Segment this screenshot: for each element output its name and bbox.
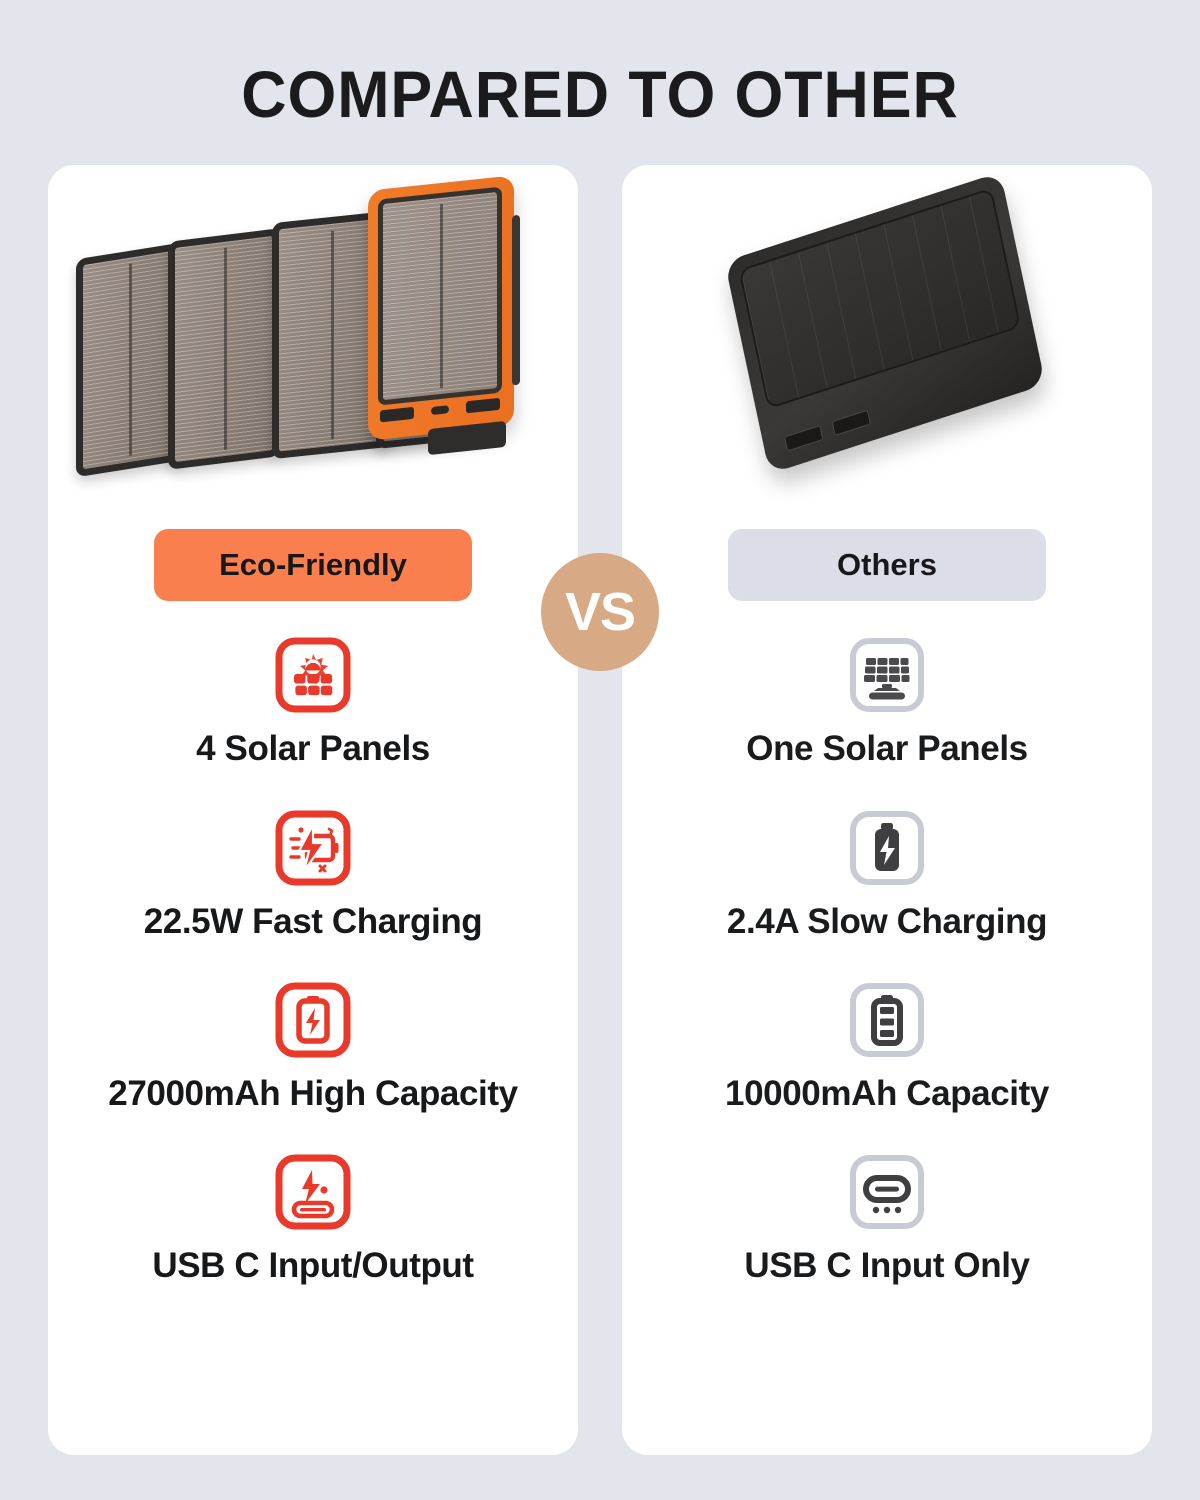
power-bank-side-trim	[512, 215, 520, 386]
battery-bolt-filled-icon	[847, 808, 927, 888]
usb-port-1	[784, 425, 823, 451]
vs-badge: VS	[541, 553, 659, 671]
single-panel-power-bank-illustration	[725, 172, 1046, 474]
power-bank-solar-face	[378, 187, 502, 406]
fast-charging-bolt-battery-icon	[273, 808, 353, 888]
comparison-infographic: COMPARED TO OTHER	[0, 0, 1200, 1500]
battery-segments-icon	[847, 980, 927, 1060]
feature-label: One Solar Panels	[746, 729, 1028, 769]
single-bank-ports	[784, 410, 871, 452]
feature-capacity: 27000mAh High Capacity	[48, 980, 578, 1114]
feature-label: 4 Solar Panels	[196, 729, 430, 769]
feature-label: 27000mAh High Capacity	[108, 1074, 517, 1114]
feature-usb-c: USB C Input/Output	[48, 1152, 578, 1286]
feature-list-others: One Solar Panels 2.4A Slow Charging	[622, 635, 1152, 1286]
usb-c-port-icon	[847, 1152, 927, 1232]
feature-capacity: 10000mAh Capacity	[622, 980, 1152, 1114]
feature-label: USB C Input Only	[744, 1246, 1029, 1286]
usb-port-2	[832, 410, 871, 436]
feature-usb-c: USB C Input Only	[622, 1152, 1152, 1286]
solar-panel-1	[76, 243, 181, 478]
product-image-eco	[48, 165, 578, 525]
foldable-solar-panels-illustration	[76, 175, 556, 515]
orange-power-bank	[368, 176, 514, 441]
feature-slow-charging: 2.4A Slow Charging	[622, 808, 1152, 942]
feature-label: 10000mAh Capacity	[725, 1074, 1049, 1114]
comparison-columns: Eco-Friendly	[0, 165, 1200, 1455]
usb-a-port-2	[466, 398, 500, 414]
feature-solar-panels: One Solar Panels	[622, 635, 1152, 769]
column-others: Others	[622, 165, 1152, 1455]
column-eco-friendly: Eco-Friendly	[48, 165, 578, 1455]
feature-label: 22.5W Fast Charging	[144, 902, 483, 942]
product-image-others	[622, 165, 1152, 525]
usb-a-port	[380, 407, 414, 423]
page-title: COMPARED TO OTHER	[30, 0, 1170, 129]
battery-bolt-icon	[273, 980, 353, 1060]
feature-label: 2.4A Slow Charging	[727, 902, 1047, 942]
feature-fast-charging: 22.5W Fast Charging	[48, 808, 578, 942]
solar-panel-sun-icon	[273, 635, 353, 715]
feature-list-eco: 4 Solar Panels	[48, 635, 578, 1286]
usb-c-port	[431, 405, 449, 415]
feature-solar-panels: 4 Solar Panels	[48, 635, 578, 769]
badge-others: Others	[728, 529, 1046, 601]
solar-panel-2	[168, 228, 280, 470]
usb-c-bolt-icon	[273, 1152, 353, 1232]
feature-label: USB C Input/Output	[152, 1246, 473, 1286]
badge-eco-friendly: Eco-Friendly	[154, 529, 472, 601]
single-solar-face	[738, 188, 1021, 410]
flat-solar-panel-icon	[847, 635, 927, 715]
